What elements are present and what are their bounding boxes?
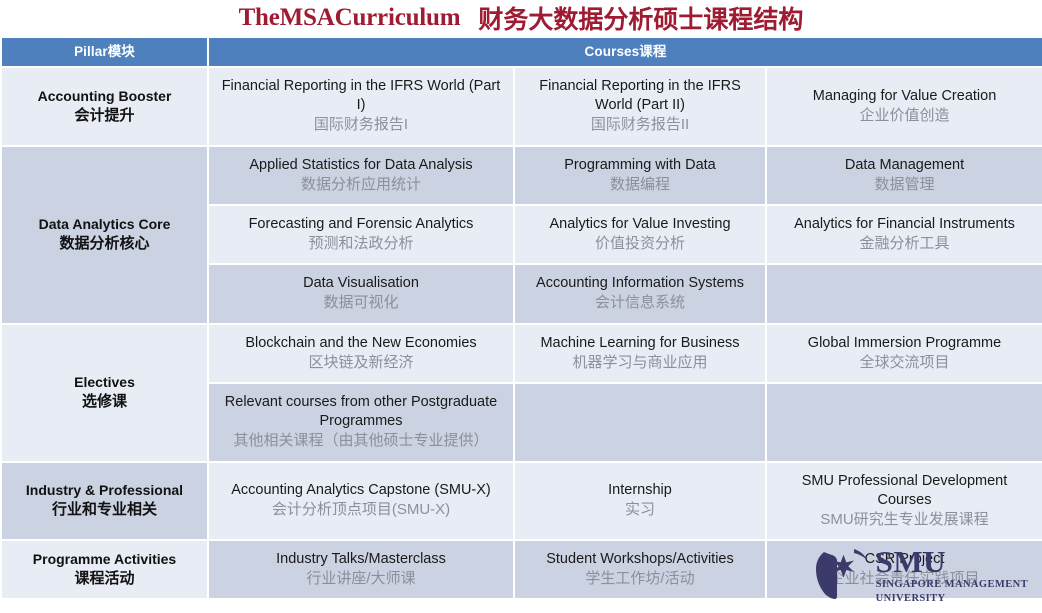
course-cell: Analytics for Financial Instruments金融分析工… — [766, 205, 1042, 264]
course-cell: Data Management数据管理 — [766, 146, 1042, 205]
course-name-zh: 价值投资分析 — [523, 234, 757, 254]
pillar-cell: Programme Activities课程活动 — [1, 540, 208, 599]
course-cell: Student Workshops/Activities学生工作坊/活动 — [514, 540, 766, 599]
course-cell: Machine Learning for Business机器学习与商业应用 — [514, 324, 766, 383]
course-cell: Accounting Information Systems会计信息系统 — [514, 264, 766, 323]
curriculum-table: Pillar模块 Courses课程 Accounting Booster会计提… — [0, 36, 1042, 600]
course-name-en: Global Immersion Programme — [775, 334, 1034, 353]
course-cell: Industry Talks/Masterclass行业讲座/大师课 — [208, 540, 514, 599]
course-cell: Internship实习 — [514, 462, 766, 541]
course-name-en: Accounting Information Systems — [523, 274, 757, 293]
course-name-en: Student Workshops/Activities — [523, 550, 757, 569]
pillar-name-zh: 行业和专业相关 — [2, 500, 207, 520]
course-cell: Relevant courses from other Postgraduate… — [208, 383, 514, 462]
header-courses: Courses课程 — [208, 37, 1042, 67]
course-name-zh: 企业价值创造 — [775, 106, 1034, 126]
pillar-name-en: Programme Activities — [33, 551, 176, 567]
course-name-zh: 预测和法政分析 — [217, 234, 505, 254]
pillar-cell: Electives选修课 — [1, 324, 208, 462]
course-name-zh: 全球交流项目 — [775, 353, 1034, 373]
course-name-zh: 数据编程 — [523, 175, 757, 195]
course-cell: Managing for Value Creation企业价值创造 — [766, 67, 1042, 146]
pillar-name-en: Electives — [74, 374, 135, 390]
table-row: Data Analytics Core数据分析核心Applied Statist… — [1, 146, 1042, 205]
pillar-name-zh: 课程活动 — [2, 569, 207, 589]
course-name-en: Financial Reporting in the IFRS World (P… — [217, 77, 505, 115]
course-name-zh: 其他相关课程（由其他硕士专业提供） — [217, 431, 505, 451]
course-name-zh: 数据分析应用统计 — [217, 175, 505, 195]
course-name-en: Programming with Data — [523, 156, 757, 175]
pillar-cell: Data Analytics Core数据分析核心 — [1, 146, 208, 324]
course-cell: Applied Statistics for Data Analysis数据分析… — [208, 146, 514, 205]
course-name-en: Blockchain and the New Economies — [217, 334, 505, 353]
course-cell: Financial Reporting in the IFRS World (P… — [208, 67, 514, 146]
course-name-zh: SMU研究生专业发展课程 — [775, 510, 1034, 530]
course-cell: Blockchain and the New Economies区块链及新经济 — [208, 324, 514, 383]
pillar-name-zh: 数据分析核心 — [2, 234, 207, 254]
course-name-en: Machine Learning for Business — [523, 334, 757, 353]
course-cell: Data Visualisation数据可视化 — [208, 264, 514, 323]
pillar-name-en: Accounting Booster — [38, 88, 172, 104]
course-name-zh: 数据管理 — [775, 175, 1034, 195]
pillar-cell: Industry & Professional行业和专业相关 — [1, 462, 208, 541]
table-body: Accounting Booster会计提升Financial Reportin… — [1, 67, 1042, 599]
course-name-zh: 会计信息系统 — [523, 293, 757, 313]
course-name-zh: 国际财务报告I — [217, 115, 505, 135]
smu-emblem-icon — [810, 549, 868, 601]
course-name-zh: 学生工作坊/活动 — [523, 569, 757, 589]
course-name-zh: 数据可视化 — [217, 293, 505, 313]
smu-tagline-line1: SINGAPORE MANAGEMENT — [876, 579, 1028, 591]
course-cell-empty — [766, 264, 1042, 323]
course-name-zh: 会计分析顶点项目(SMU-X) — [217, 500, 505, 520]
course-name-zh: 金融分析工具 — [775, 234, 1034, 254]
header-pillar: Pillar模块 — [1, 37, 208, 67]
table-row: Accounting Booster会计提升Financial Reportin… — [1, 67, 1042, 146]
course-cell: Accounting Analytics Capstone (SMU-X)会计分… — [208, 462, 514, 541]
table-row: Electives选修课Blockchain and the New Econo… — [1, 324, 1042, 383]
course-cell: Financial Reporting in the IFRS World (P… — [514, 67, 766, 146]
course-name-zh: 国际财务报告II — [523, 115, 757, 135]
course-name-en: Managing for Value Creation — [775, 87, 1034, 106]
course-name-en: Forecasting and Forensic Analytics — [217, 215, 505, 234]
course-name-en: Internship — [523, 481, 757, 500]
course-name-en: Relevant courses from other Postgraduate… — [217, 393, 505, 431]
course-cell: SMU Professional Development CoursesSMU研… — [766, 462, 1042, 541]
page-title-chinese: 财务大数据分析硕士课程结构 — [478, 0, 803, 36]
course-cell-empty — [766, 383, 1042, 462]
course-name-en: Data Visualisation — [217, 274, 505, 293]
course-name-zh: 行业讲座/大师课 — [217, 569, 505, 589]
course-name-en: Data Management — [775, 156, 1034, 175]
course-name-zh: 区块链及新经济 — [217, 353, 505, 373]
pillar-name-zh: 会计提升 — [2, 106, 207, 126]
course-name-en: Industry Talks/Masterclass — [217, 550, 505, 569]
course-cell-empty — [514, 383, 766, 462]
course-name-en: Accounting Analytics Capstone (SMU-X) — [217, 481, 505, 500]
course-name-zh: 机器学习与商业应用 — [523, 353, 757, 373]
table-row: Industry & Professional行业和专业相关Accounting… — [1, 462, 1042, 541]
course-name-en: Analytics for Financial Instruments — [775, 215, 1034, 234]
course-cell: Programming with Data数据编程 — [514, 146, 766, 205]
course-name-en: Financial Reporting in the IFRS World (P… — [523, 77, 757, 115]
page-title-english: TheMSACurriculum — [239, 4, 461, 32]
pillar-name-en: Data Analytics Core — [39, 216, 171, 232]
header-row: Pillar模块 Courses课程 — [1, 37, 1042, 67]
course-name-en: SMU Professional Development Courses — [775, 472, 1034, 510]
pillar-cell: Accounting Booster会计提升 — [1, 67, 208, 146]
smu-wordmark-block: SMU SINGAPORE MANAGEMENT UNIVERSITY — [876, 546, 1028, 605]
course-cell: Global Immersion Programme全球交流项目 — [766, 324, 1042, 383]
course-name-zh: 实习 — [523, 500, 757, 520]
smu-tagline-line2: UNIVERSITY — [876, 593, 1028, 605]
course-name-en: Analytics for Value Investing — [523, 215, 757, 234]
smu-wordmark: SMU — [876, 546, 1028, 577]
course-name-en: Applied Statistics for Data Analysis — [217, 156, 505, 175]
pillar-name-zh: 选修课 — [2, 392, 207, 412]
page-title: TheMSACurriculum 财务大数据分析硕士课程结构 — [0, 0, 1042, 36]
course-cell: Forecasting and Forensic Analytics预测和法政分… — [208, 205, 514, 264]
table-header: Pillar模块 Courses课程 — [1, 37, 1042, 67]
pillar-name-en: Industry & Professional — [26, 482, 183, 498]
smu-logo: SMU SINGAPORE MANAGEMENT UNIVERSITY — [810, 546, 1028, 605]
course-cell: Analytics for Value Investing价值投资分析 — [514, 205, 766, 264]
